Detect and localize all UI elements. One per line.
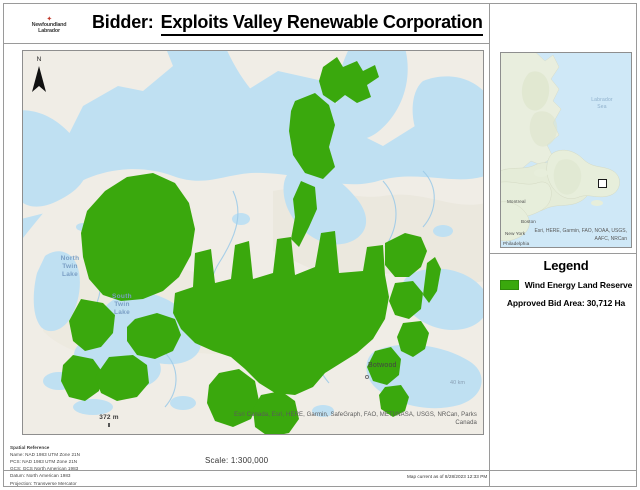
spatial-reference-gcs: GCS: GCS North American 1983 — [10, 465, 80, 472]
bidder-label: Bidder: — [92, 12, 154, 33]
legend-panel: Legend Wind Energy Land Reserve Approved… — [495, 258, 637, 308]
spatial-reference-projection: Projection: Transverse Mercator — [10, 480, 80, 487]
spatial-reference-datum: Datum: North American 1983 — [10, 472, 80, 479]
spatial-reference-block: Spatial Reference Name: NAD 1983 UTM Zon… — [10, 444, 80, 487]
logo-line-2: Labrador — [38, 29, 60, 35]
title-row: Bidder: Exploits Valley Renewable Corpor… — [92, 12, 483, 36]
north-arrow: N — [29, 56, 49, 96]
scale-text: Scale: 1:300,000 — [205, 456, 268, 465]
inset-place-montreal: Montreal — [507, 199, 526, 204]
column-divider — [489, 3, 490, 487]
main-map-frame[interactable]: N North Twin Lake South Twin Lake Botwoo… — [22, 50, 484, 435]
right-bottom-divider — [490, 470, 637, 471]
map-scalebar: 372 m — [71, 414, 147, 422]
map-layout-page: ✦ Newfoundland Labrador Bidder: Exploits… — [0, 0, 640, 490]
scalebar-text: 372 m — [71, 414, 147, 421]
spatial-reference-pcs: PCS: NAD 1983 UTM Zone 21N — [10, 458, 80, 465]
north-arrow-icon — [29, 64, 49, 94]
legend-item-wind-energy-land-reserve: Wind Energy Land Reserve — [495, 280, 637, 290]
legend-item-label: Wind Energy Land Reserve — [525, 280, 633, 290]
inset-attribution: Esri, HERE, Garmin, FAO, NOAA, USGS, AAF… — [519, 228, 627, 243]
map-current-timestamp: Map current as of 8/28/2023 12:33 PM — [407, 474, 487, 479]
inset-place-boston: Boston — [521, 219, 536, 224]
inset-label-labrador-sea: Labrador Sea — [579, 97, 625, 110]
legend-swatch-icon — [500, 280, 519, 290]
map-attribution: Esri Canada, Esri, HERE, Garmin, SafeGra… — [227, 411, 477, 428]
inset-locator-box — [598, 179, 607, 188]
bidder-name: Exploits Valley Renewable Corporation — [161, 12, 483, 36]
map-reticle-label: 40 km — [450, 380, 465, 386]
place-label-botwood: Botwood — [368, 362, 397, 369]
north-arrow-letter: N — [29, 56, 49, 64]
newfoundland-labrador-logo: ✦ Newfoundland Labrador — [18, 11, 80, 39]
title-block: ✦ Newfoundland Labrador Bidder: Exploits… — [4, 4, 489, 44]
inset-bottom-divider — [490, 253, 637, 254]
legend-title: Legend — [495, 258, 637, 273]
spatial-reference-name: Name: NAD 1983 UTM Zone 21N — [10, 451, 80, 458]
spatial-reference-heading: Spatial Reference — [10, 444, 80, 451]
main-map-canvas[interactable] — [23, 51, 483, 434]
inset-locator-map[interactable]: Labrador Sea Montreal Boston New York Ph… — [500, 52, 632, 248]
place-marker-botwood — [365, 375, 369, 379]
approved-bid-area-text: Approved Bid Area: 30,712 Ha — [495, 298, 637, 308]
